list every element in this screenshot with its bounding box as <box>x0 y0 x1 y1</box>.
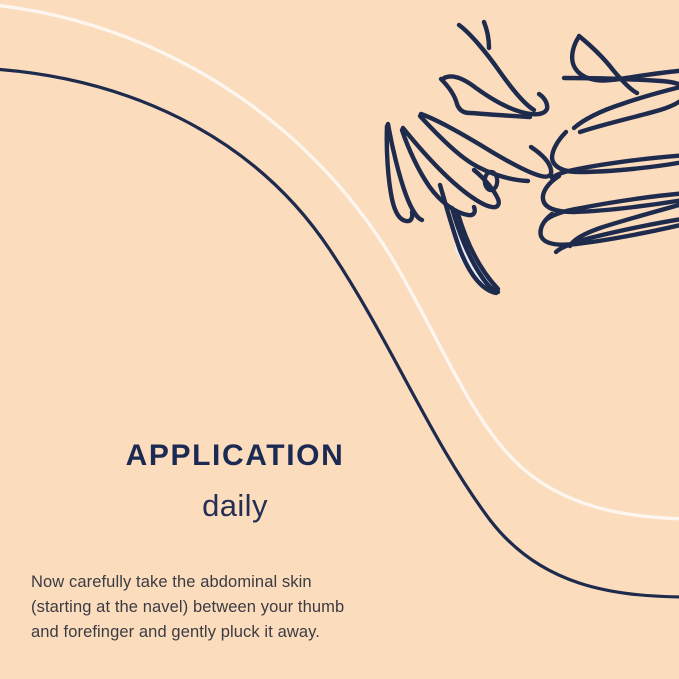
right-hand-index-crease <box>574 85 679 128</box>
left-hand-thumb <box>459 25 534 110</box>
page-title: APPLICATION <box>0 440 470 472</box>
text-block: APPLICATION daily Now carefully take the… <box>0 440 470 645</box>
instruction-paragraph: Now carefully take the abdominal skin (s… <box>0 522 470 645</box>
right-hand-little-crease <box>556 218 679 252</box>
frequency-subtitle: daily <box>0 472 470 523</box>
navel-icon <box>485 172 497 190</box>
right-hand-middle-crease <box>552 155 679 178</box>
left-hand-inner-edge <box>452 208 498 292</box>
left-hand-ring-crease <box>402 130 475 215</box>
pinched-skin-fold <box>455 212 498 288</box>
right-hand-middle-finger <box>552 132 679 172</box>
instruction-line-2: (starting at the navel) between your thu… <box>31 595 460 620</box>
hands-illustration <box>387 22 679 293</box>
left-hand-middle-finger <box>421 114 551 177</box>
right-hand-thumb-inner <box>579 36 637 93</box>
left-hand-little-finger <box>388 124 422 220</box>
left-hand-little-crease <box>387 126 413 221</box>
instruction-line-1: Now carefully take the abdominal skin <box>31 570 460 595</box>
right-hand-ring-finger <box>543 176 679 212</box>
application-instruction-card: APPLICATION daily Now carefully take the… <box>0 0 679 679</box>
instruction-line-3: and forefinger and gently pluck it away. <box>31 620 460 645</box>
pinched-fold-outline <box>458 214 498 289</box>
right-hand-ring-crease <box>545 193 679 221</box>
left-hand-index-crease <box>441 79 530 117</box>
right-hand-index-finger <box>564 78 679 132</box>
right-hand-thumb <box>572 38 679 81</box>
left-hand-index-finger <box>444 76 547 114</box>
left-hand-palm-edge <box>440 185 496 293</box>
left-hand-thumb-tip <box>484 22 489 48</box>
left-hand-middle-crease <box>420 116 528 181</box>
left-hand-ring-finger <box>403 128 499 207</box>
right-hand-lower-fingertip <box>570 202 679 246</box>
right-hand-little-finger <box>540 214 679 245</box>
